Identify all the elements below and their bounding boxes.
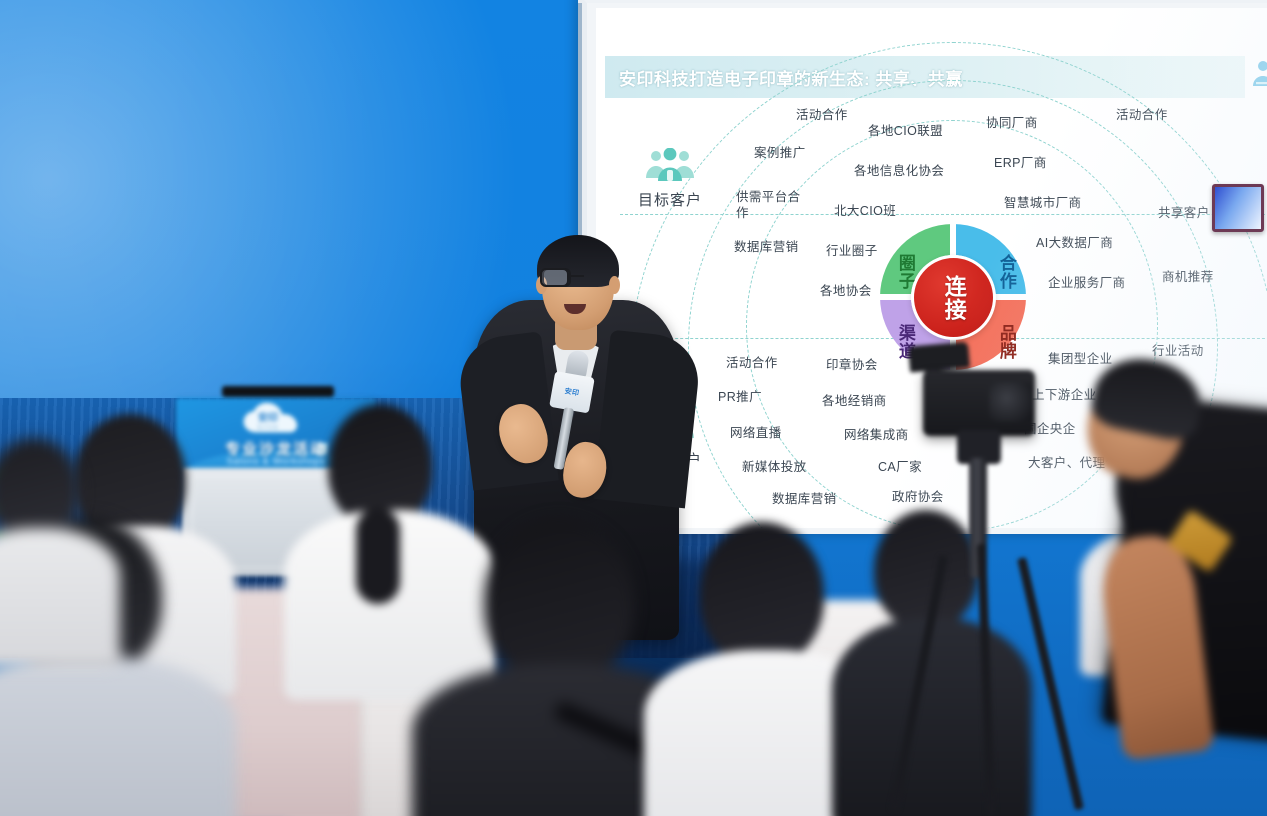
wall-monitor xyxy=(1212,184,1264,232)
presentation-scene: 安印科技打造电子印章的新生态: 共享、共赢 xyxy=(0,0,1267,816)
target-customer-top: 目标客户 xyxy=(622,148,718,210)
podium-top-bar xyxy=(222,386,334,397)
keyword-label: 新媒体投放 xyxy=(742,460,807,476)
keyword-label: 供需平台合作 xyxy=(736,190,810,221)
camera-operator xyxy=(1040,340,1267,816)
diagram-hub-label: 连接 xyxy=(942,275,964,321)
keyword-label: 共享客户 xyxy=(1158,206,1210,222)
keyword-label: 数据库营销 xyxy=(734,240,799,256)
keyword-label: 活动合作 xyxy=(1116,108,1168,124)
tripod-leg xyxy=(977,544,995,816)
keyword-label: 智慧城市厂商 xyxy=(1004,196,1081,212)
keyword-label: 北大CIO班 xyxy=(834,204,896,220)
svg-text:安印: 安印 xyxy=(258,411,278,424)
keyword-label: 协同厂商 xyxy=(986,116,1038,132)
keyword-label: ERP厂商 xyxy=(994,156,1047,172)
keyword-label: 网络直播 xyxy=(730,426,782,442)
diagram-hub: 连接 xyxy=(911,255,996,340)
people-group-icon xyxy=(622,148,718,182)
audience-member xyxy=(0,438,102,618)
microphone-flag: 安印 xyxy=(549,371,595,413)
glasses-icon xyxy=(540,268,616,288)
keyword-label: 各地经销商 xyxy=(822,394,887,410)
camera-hood xyxy=(908,341,970,372)
target-customer-label: 目标客户 xyxy=(622,189,718,210)
keyword-label: 案例推广 xyxy=(754,146,806,162)
keyword-label: 网络集成商 xyxy=(844,428,909,444)
quadrant-label-brand: 品牌 xyxy=(997,324,1015,360)
camera-lens-icon xyxy=(989,382,1033,422)
keyword-label: 各地CIO联盟 xyxy=(868,124,943,140)
speaker-shoulder-right xyxy=(593,330,702,509)
keyword-label: 数据库营销 xyxy=(772,492,837,508)
keyword-label: AI大数据厂商 xyxy=(1036,236,1113,252)
quadrant-label-coop: 合作 xyxy=(997,254,1015,290)
keyword-label: 印章协会 xyxy=(826,358,878,374)
keyword-label: 行业圈子 xyxy=(826,244,878,260)
keyword-label: 企业服务厂商 xyxy=(1048,276,1125,292)
keyword-label: 各地协会 xyxy=(820,284,872,300)
quadrant-label-circle: 圈子 xyxy=(896,254,914,290)
keyword-label: 商机推荐 xyxy=(1162,270,1214,286)
keyword-label: 活动合作 xyxy=(796,108,848,124)
keyword-label: 活动合作 xyxy=(726,356,778,372)
svg-text:电子印章: 电子印章 xyxy=(257,424,279,431)
keyword-label: 各地信息化协会 xyxy=(854,164,944,180)
keyword-label: PR推广 xyxy=(718,390,762,406)
